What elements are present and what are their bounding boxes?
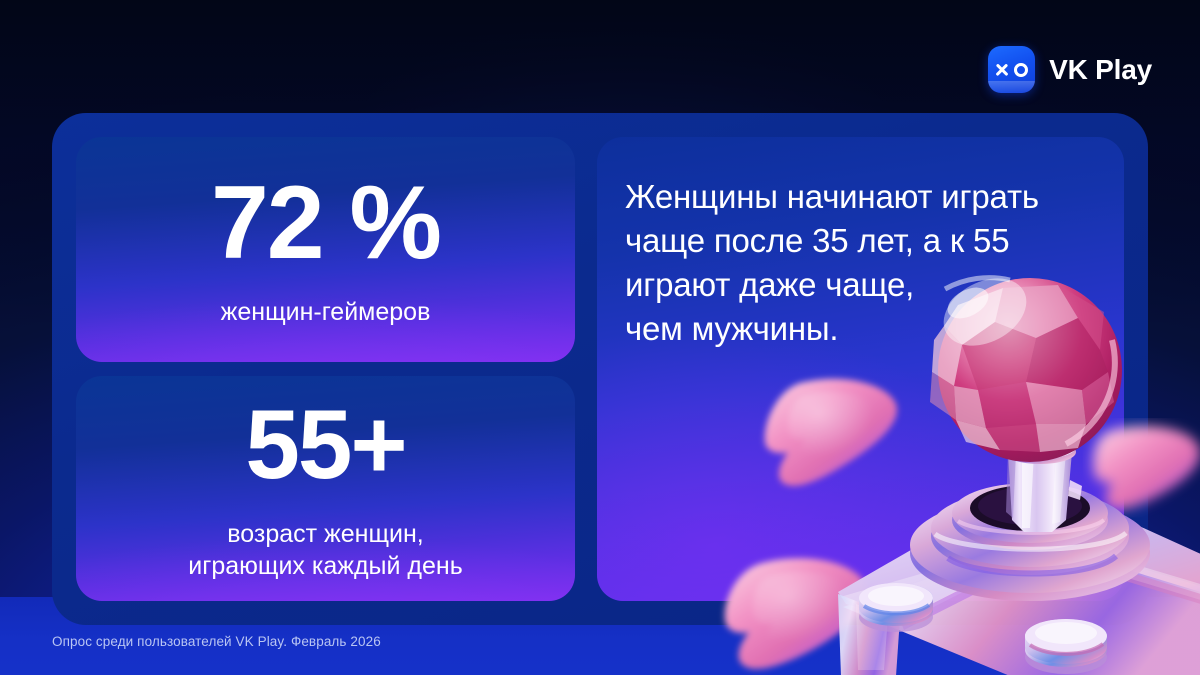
- content-panel: 72 % женщин-геймеров 55+ возраст женщин,…: [52, 113, 1148, 625]
- infographic-slide: VK Play 72 % женщин-геймеров 55+ возраст…: [0, 0, 1200, 675]
- vk-play-logo-icon: [988, 46, 1035, 93]
- joystick-button-right: [1025, 619, 1107, 674]
- stats-column: 72 % женщин-геймеров 55+ возраст женщин,…: [76, 137, 575, 601]
- stat-card-percent: 72 % женщин-геймеров: [76, 137, 575, 362]
- panel-inner: 72 % женщин-геймеров 55+ возраст женщин,…: [52, 113, 1148, 625]
- headline-panel: Женщины начинают играть чаще после 35 ле…: [597, 137, 1124, 601]
- headline-text: Женщины начинают играть чаще после 35 ле…: [597, 137, 1124, 351]
- stat-card-age: 55+ возраст женщин, играющих каждый день: [76, 376, 575, 601]
- stat-value-age: 55+: [245, 395, 405, 493]
- stat-label-age: возраст женщин, играющих каждый день: [188, 519, 463, 582]
- o-glyph-icon: [1014, 63, 1028, 77]
- brand-logo[interactable]: VK Play: [988, 46, 1152, 93]
- brand-name: VK Play: [1049, 54, 1152, 86]
- x-glyph-icon: [996, 63, 1009, 76]
- logo-glyphs: [996, 63, 1028, 77]
- footer-note: Опрос среди пользователей VK Play. Февра…: [52, 634, 381, 649]
- stat-value-percent: 72 %: [211, 171, 440, 275]
- stat-label-percent: женщин-геймеров: [221, 297, 431, 329]
